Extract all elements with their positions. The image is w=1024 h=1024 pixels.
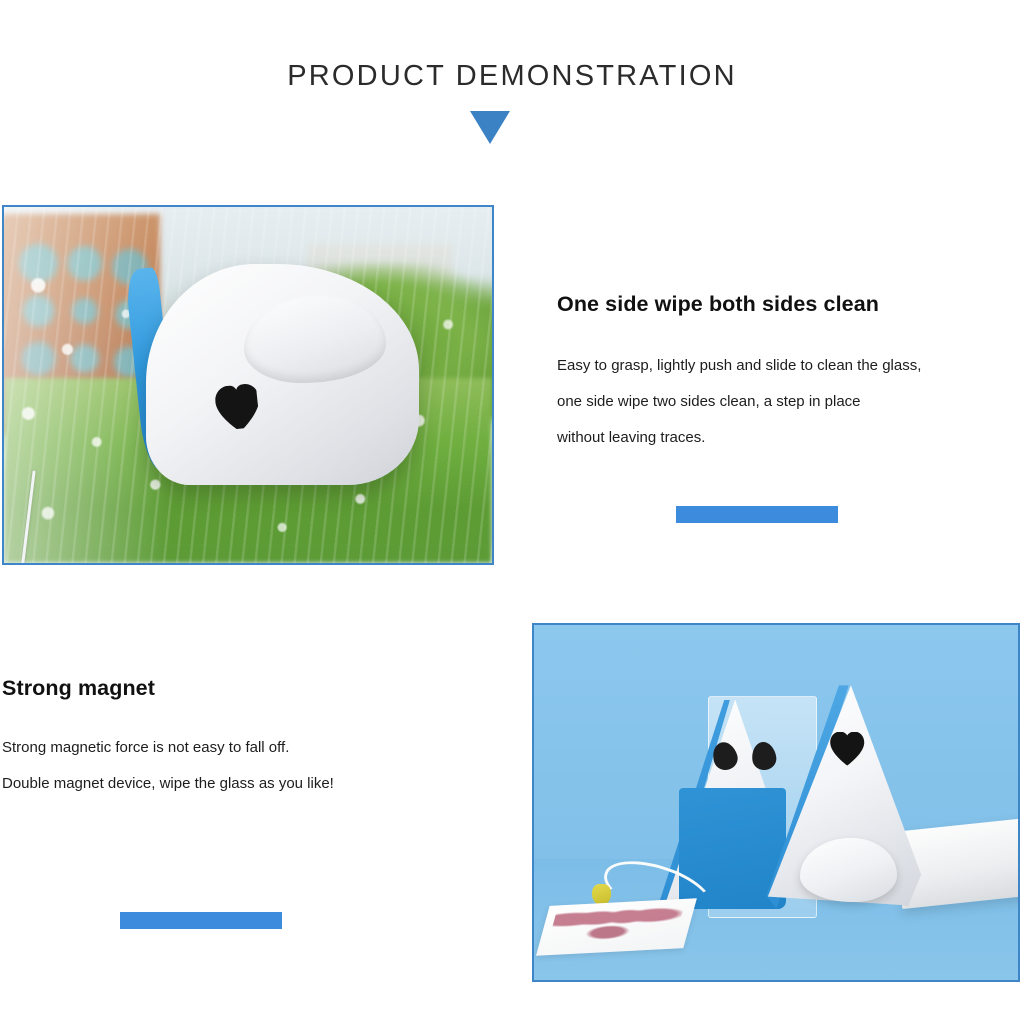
feature-1-body: Easy to grasp, lightly push and slide to… — [557, 348, 1024, 456]
product-demonstration-page: PRODUCT DEMONSTRATION One side wipe both… — [0, 0, 1024, 1024]
feature-image-window-cleaner — [2, 205, 494, 565]
feature-1-heading: One side wipe both sides clean — [557, 292, 879, 317]
feature-2-body-line: Strong magnetic force is not easy to fal… — [2, 730, 442, 766]
feature-1-accent-bar — [676, 506, 838, 523]
feature-2-heading: Strong magnet — [2, 676, 155, 701]
triangle-down-icon — [470, 111, 510, 144]
white-book — [902, 817, 1018, 909]
feature-1-body-line: one side wipe two sides clean, a step in… — [557, 384, 1024, 420]
window-cleaner-device — [146, 264, 419, 485]
feature-1-body-line: without leaving traces. — [557, 420, 1024, 456]
feature-2-body: Strong magnetic force is not easy to fal… — [2, 730, 442, 802]
photo-blue-content — [534, 625, 1018, 980]
page-title: PRODUCT DEMONSTRATION — [0, 60, 1024, 93]
feature-2-body-line: Double magnet device, wipe the glass as … — [2, 766, 442, 802]
feature-image-magnet-halves — [532, 623, 1020, 982]
photo-window-content — [4, 207, 492, 563]
feature-1-body-line: Easy to grasp, lightly push and slide to… — [557, 348, 1024, 384]
front-half-handle-knob — [800, 838, 897, 902]
feature-2-accent-bar — [120, 912, 282, 929]
